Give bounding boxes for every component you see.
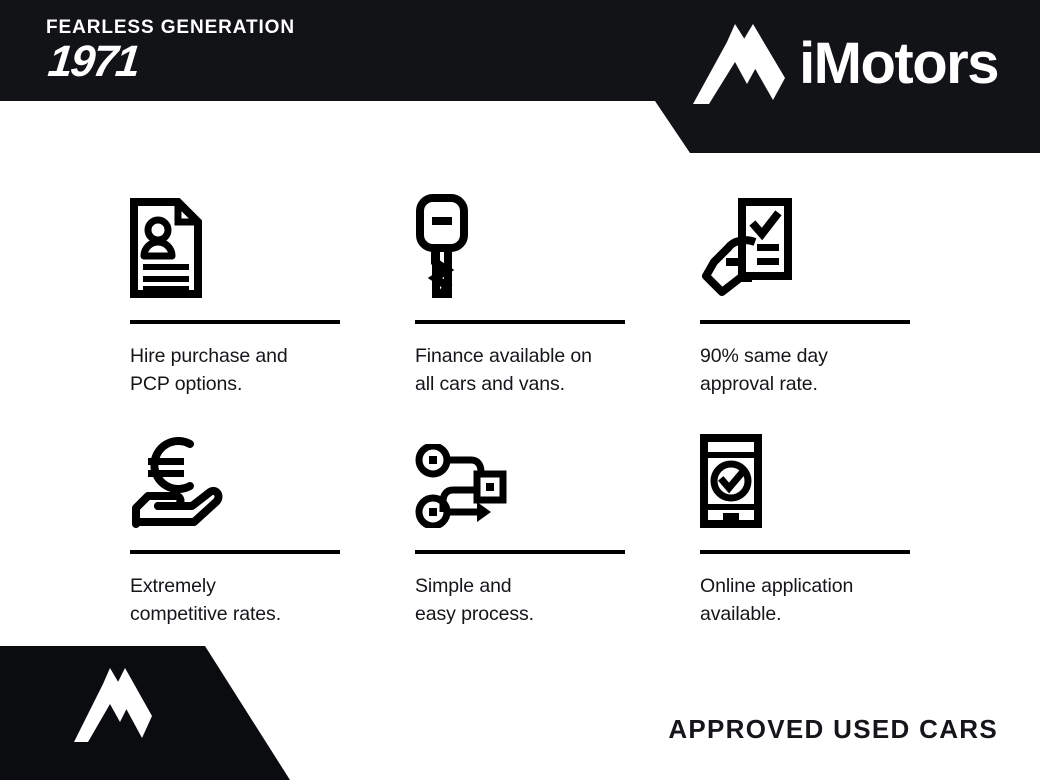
feature-divider [415,320,625,324]
feature-icon-slot [700,428,910,528]
feature-card-approval-rate: 90% same day approval rate. [700,190,910,398]
feature-icon-slot [415,190,625,298]
feature-grid: Hire purchase and PCP options. Finance a… [130,190,920,629]
feature-card-online-application: Online application available. [700,428,910,628]
feature-card-simple-process: Simple and easy process. [415,428,625,628]
cv-document-person-icon [130,198,202,298]
feature-icon-slot [415,428,625,528]
feature-divider [700,320,910,324]
tagline-year-text: 1971 [46,40,451,84]
feature-text: Finance available on all cars and vans. [415,343,625,398]
footer-headline: APPROVED USED CARS [668,714,998,745]
feature-card-finance-available: Finance available on all cars and vans. [415,190,625,398]
feature-divider [130,550,340,554]
feature-icon-slot [130,428,340,528]
process-flowchart-arrow-icon [415,444,507,528]
feature-divider [700,550,910,554]
feature-text: Extremely competitive rates. [130,573,340,628]
feature-divider [415,550,625,554]
euro-in-hand-icon [130,436,224,528]
feature-divider [130,320,340,324]
feature-icon-slot [700,190,910,298]
tagline-top-text: FEARLESS GENERATION [46,18,446,37]
hand-holding-checklist-icon [700,198,792,298]
feature-text: Hire purchase and PCP options. [130,343,340,398]
brand-lockup: iMotors [689,22,998,106]
footer-imotors-chevron-logo-icon [72,666,152,762]
smartphone-check-icon [700,434,762,528]
brand-name-text: iMotors [799,35,998,93]
feature-card-hire-purchase: Hire purchase and PCP options. [130,190,340,398]
header: FEARLESS GENERATION 1971 iMotors [0,0,1040,155]
promo-poster: FEARLESS GENERATION 1971 iMotors [0,0,1040,780]
feature-text: Simple and easy process. [415,573,625,628]
imotors-chevron-logo-icon [689,22,785,106]
footer-background-shape [0,640,340,780]
car-key-icon [415,194,469,298]
feature-icon-slot [130,190,340,298]
tagline-block: FEARLESS GENERATION 1971 [46,18,446,84]
feature-text: 90% same day approval rate. [700,343,910,398]
feature-card-competitive-rates: Extremely competitive rates. [130,428,340,628]
feature-text: Online application available. [700,573,910,628]
